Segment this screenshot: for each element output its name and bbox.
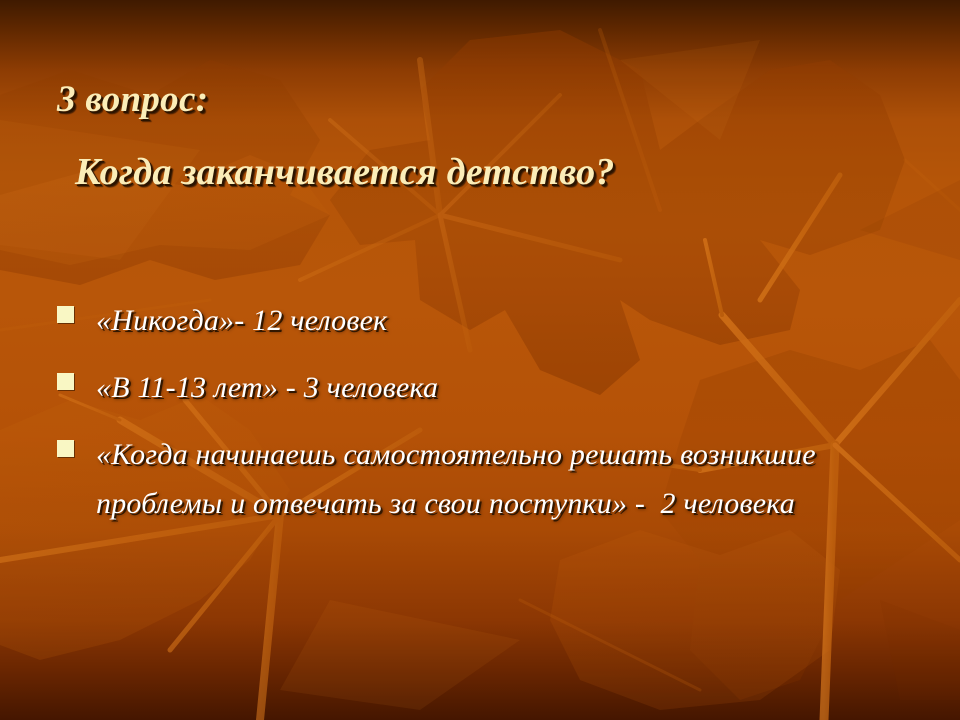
bullet-list: «Никогда»- 12 человек «В 11-13 лет» - 3 … [0,296,900,546]
slide-title: 3 вопрос: Когда заканчивается детство? [0,74,960,198]
list-item: «Когда начинаешь самостоятельно решать в… [0,430,900,528]
list-item-label: «В 11-13 лет» - 3 человека [96,363,876,412]
presentation-slide: 3 вопрос: Когда заканчивается детство? «… [0,0,960,720]
square-bullet-icon [57,440,74,457]
title-line-2: Когда заканчивается детство? [0,146,960,198]
list-item-label: «Когда начинаешь самостоятельно решать в… [96,430,876,528]
slide-content: 3 вопрос: Когда заканчивается детство? «… [0,0,960,720]
list-item-label: «Никогда»- 12 человек [96,296,876,345]
square-bullet-icon [57,373,74,390]
list-item: «Никогда»- 12 человек [0,296,900,345]
title-line-1: 3 вопрос: [0,74,960,126]
list-item: «В 11-13 лет» - 3 человека [0,363,900,412]
square-bullet-icon [57,306,74,323]
